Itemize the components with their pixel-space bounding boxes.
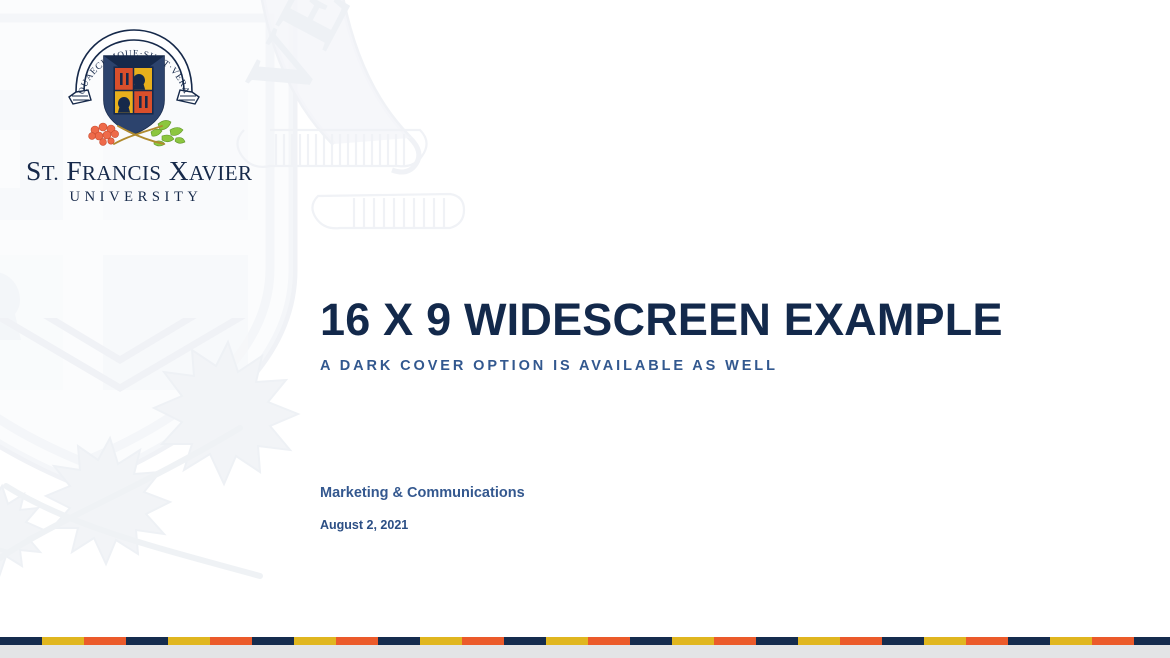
wordmark-x: X bbox=[169, 155, 189, 186]
title-block: 16 X 9 WIDESCREEN EXAMPLE A DARK COVER O… bbox=[320, 296, 1003, 374]
footer-bar-segment-orange bbox=[1092, 637, 1134, 645]
byline-block: Marketing & Communications August 2, 202… bbox=[320, 485, 525, 532]
svg-text:VERA: VERA bbox=[227, 0, 430, 118]
footer-bar-segment-gold bbox=[42, 637, 84, 645]
footer-color-bar bbox=[0, 637, 1170, 645]
stfx-coat-of-arms-icon: QUAECUMQUE·SUNT·VERA bbox=[66, 26, 202, 151]
footer-bar-segment-orange bbox=[336, 637, 378, 645]
stfx-wordmark: ST. FRANCIS XAVIER UNIVERSITY bbox=[26, 157, 242, 204]
wordmark-line-2: UNIVERSITY bbox=[26, 190, 242, 205]
footer-bar-segment-navy bbox=[882, 637, 924, 645]
slide-canvas: VERA bbox=[0, 0, 1170, 658]
footer-bar-segment-navy bbox=[1008, 637, 1050, 645]
footer-bar-segment-orange bbox=[588, 637, 630, 645]
footer-bar-segment-navy bbox=[756, 637, 798, 645]
footer-bar-segment-gold bbox=[1050, 637, 1092, 645]
footer-bar-segment-orange bbox=[210, 637, 252, 645]
footer-bar-segment-orange bbox=[840, 637, 882, 645]
wordmark-f: F bbox=[66, 155, 82, 186]
author-label: Marketing & Communications bbox=[320, 485, 525, 501]
footer-bar-segment-orange bbox=[966, 637, 1008, 645]
date-label: August 2, 2021 bbox=[320, 518, 525, 532]
footer-bar-segment-gold bbox=[168, 637, 210, 645]
page-subtitle: A DARK COVER OPTION IS AVAILABLE AS WELL bbox=[320, 358, 1003, 374]
footer-bar-segment-navy bbox=[252, 637, 294, 645]
wordmark-t: T. bbox=[42, 161, 59, 185]
wordmark-line-1: ST. FRANCIS XAVIER bbox=[26, 157, 242, 185]
footer-bar-segment-navy bbox=[1134, 637, 1170, 645]
footer-bar-segment-navy bbox=[630, 637, 672, 645]
footer-bar-segment-navy bbox=[504, 637, 546, 645]
stfx-logo: QUAECUMQUE·SUNT·VERA bbox=[26, 26, 242, 204]
page-title: 16 X 9 WIDESCREEN EXAMPLE bbox=[320, 296, 1003, 345]
footer-bar-segment-orange bbox=[714, 637, 756, 645]
scroll-banner-watermark-icon: VERA bbox=[214, 0, 504, 274]
footer-bar-segment-gold bbox=[546, 637, 588, 645]
footer-bar-segment-gold bbox=[798, 637, 840, 645]
footer-bar-segment-navy bbox=[0, 637, 42, 645]
footer-bar-segment-orange bbox=[84, 637, 126, 645]
wordmark-avier: AVIER bbox=[189, 161, 252, 185]
footer-bar-segment-gold bbox=[294, 637, 336, 645]
footer-bar-segment-gold bbox=[672, 637, 714, 645]
crest-flowers-icon bbox=[89, 123, 119, 145]
wordmark-rancis: RANCIS bbox=[82, 161, 161, 185]
footer-bar-segment-gold bbox=[924, 637, 966, 645]
wordmark-s: S bbox=[26, 155, 42, 186]
footer-bar-segment-navy bbox=[126, 637, 168, 645]
footer-bar-segment-navy bbox=[378, 637, 420, 645]
footer-bar-segment-gold bbox=[420, 637, 462, 645]
maple-leaf-watermark-icon bbox=[0, 318, 350, 618]
footer-bar-segment-orange bbox=[462, 637, 504, 645]
